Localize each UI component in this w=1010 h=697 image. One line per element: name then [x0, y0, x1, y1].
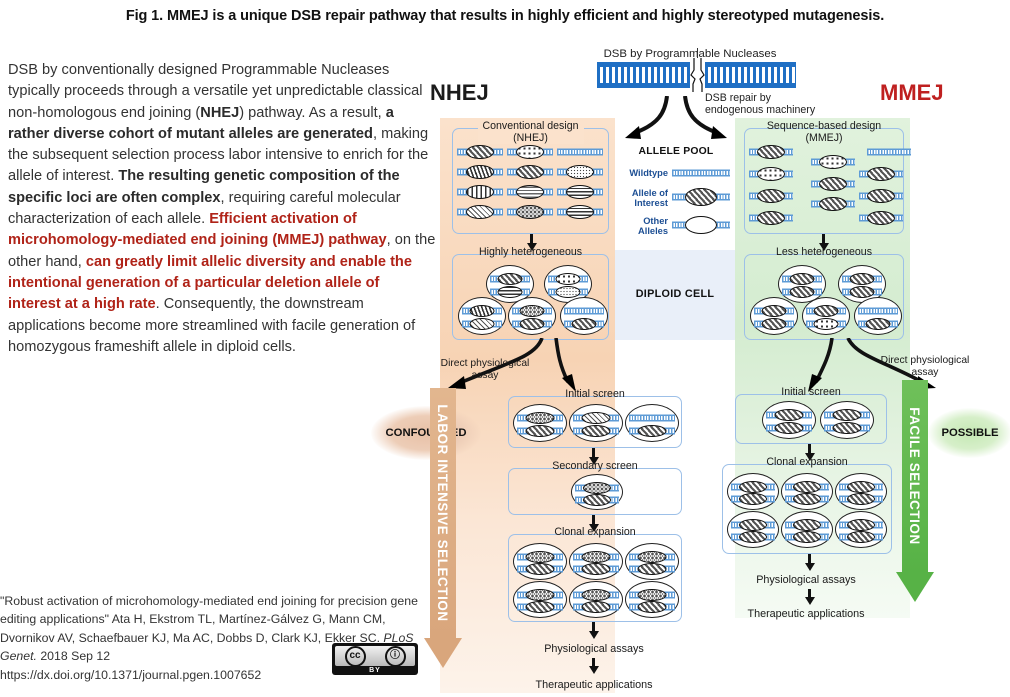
allele-blob [520, 305, 545, 317]
allele-blob [833, 422, 862, 434]
allele-blob [739, 519, 767, 531]
diploid-cell-icon [508, 297, 556, 335]
nhej-pathway-heading: NHEJ [430, 80, 489, 106]
mutant-allele-icon [629, 563, 675, 574]
allele-blob [566, 165, 594, 179]
diploid-cell-icon [625, 581, 679, 618]
mutant-allele-icon [507, 165, 553, 178]
diploid-cell-icon [854, 297, 902, 335]
allele-blob [526, 425, 555, 437]
allele-blob [470, 305, 495, 317]
mutant-allele-icon [517, 563, 563, 574]
allele-blob [847, 519, 875, 531]
allele-pool-title: ALLELE POOL [624, 146, 728, 157]
label-direct-assay-left: Direct physiologicalassay [432, 358, 538, 381]
mutant-allele-icon [811, 177, 855, 190]
facile-selection-arrow: FACILE SELECTION [902, 380, 928, 610]
allele-blob [793, 493, 821, 505]
panel-less-heterogeneous: Less heterogeneous [744, 254, 904, 340]
allele-blob [526, 589, 555, 601]
mutant-allele-icon [858, 318, 898, 329]
allele-blob [466, 205, 494, 219]
allele-blob [498, 286, 523, 298]
allele-blob [847, 493, 875, 505]
allele-blob [466, 185, 494, 199]
mutant-allele-icon [749, 211, 793, 224]
allele-blob [814, 318, 839, 330]
allele-blob [867, 167, 895, 181]
outcome-confounded: CONFOUNDED [371, 406, 481, 460]
diploid-cell-icon [513, 581, 567, 618]
panel-sequence-based-design: Sequence-based design(MMEJ) [744, 128, 904, 234]
allele-blob [526, 551, 555, 563]
mutant-allele-icon [557, 165, 603, 178]
mutant-allele-icon [457, 205, 503, 218]
mutant-allele-icon [512, 318, 552, 329]
mutant-allele-icon [557, 205, 603, 218]
allele-blob [793, 481, 821, 493]
panel-label-conventional-design: Conventional design(NHEJ) [477, 121, 583, 144]
allele-blob [582, 412, 611, 424]
allele-blob [526, 563, 555, 575]
allele-blob [793, 531, 821, 543]
diploid-cell-icon [560, 297, 608, 335]
mutant-allele-icon [512, 305, 552, 316]
label-therapeutic-applications-right: Therapeutic applications [722, 608, 890, 620]
mutant-allele-icon [754, 305, 794, 316]
mutant-allele-icon [517, 589, 563, 600]
mutant-allele-icon [457, 165, 503, 178]
allele-blob [638, 551, 667, 563]
allele-blob [466, 165, 494, 179]
panel-label-initial-screen-mmej: Initial screen [776, 387, 845, 399]
diploid-cell-icon [625, 404, 679, 442]
labor-intensive-selection-arrow: LABOR INTENSIVE SELECTION [430, 388, 456, 668]
mutant-allele-icon [629, 425, 675, 436]
allele-blob [867, 211, 895, 225]
arrow-clonal-to-assays-left [588, 622, 600, 640]
label-physiological-assays-right: Physiological assays [722, 574, 890, 586]
mutant-allele-icon [859, 167, 903, 180]
allele-blob [638, 601, 667, 613]
mutant-allele-icon [517, 551, 563, 562]
mutant-allele-icon [573, 601, 619, 612]
allele-blob [775, 422, 804, 434]
panel-label-less-heterogeneous: Less heterogeneous [771, 247, 877, 259]
allele-blob [814, 305, 839, 317]
diploid-cell-icon [820, 401, 874, 439]
mutant-allele-icon [842, 273, 882, 284]
wildtype-allele-icon [564, 305, 604, 316]
diploid-cell-icon [802, 297, 850, 335]
diploid-cell-icon [458, 297, 506, 335]
allele-blob [566, 205, 594, 219]
panel-initial-screen-mmej: Initial screen [735, 394, 887, 444]
mutant-allele-icon [785, 519, 829, 530]
diploid-cell-icon [835, 473, 887, 510]
allele-blob [762, 305, 787, 317]
cc-by-label: BY [332, 667, 418, 674]
allele-blob [566, 185, 594, 199]
mutant-allele-icon [785, 493, 829, 504]
allele-blob [556, 286, 581, 298]
mutant-allele-icon [811, 197, 855, 210]
mutant-allele-icon [824, 409, 870, 420]
arrow-assays-to-therapeutic-right [804, 589, 816, 607]
diploid-cell-icon [569, 581, 623, 618]
mutant-allele-icon [575, 494, 619, 505]
legend-allele-of-interest-icon [672, 188, 730, 206]
dsb-branch-arrows [615, 96, 740, 146]
allele-blob [867, 189, 895, 203]
cc-icon: cc [345, 646, 366, 667]
arrow-assays-to-therapeutic-left [588, 658, 600, 676]
allele-blob [556, 273, 581, 285]
mutant-allele-icon [782, 273, 822, 284]
diploid-cell-icon [513, 404, 567, 442]
mutant-allele-icon [785, 531, 829, 542]
allele-blob [850, 286, 875, 298]
diploid-cell-icon [569, 404, 623, 442]
outcome-possible: POSSIBLE [928, 408, 1010, 458]
mutant-allele-icon [629, 551, 675, 562]
label-physiological-assays-left: Physiological assays [508, 643, 680, 655]
mutant-allele-icon [839, 481, 883, 492]
legend-other-alleles-icon [672, 216, 730, 234]
diploid-cell-icon [781, 511, 833, 548]
mutant-allele-icon [629, 601, 675, 612]
mutant-allele-icon [490, 286, 530, 297]
allele-blob [582, 425, 611, 437]
allele-blob [762, 318, 787, 330]
diploid-cell-icon [727, 511, 779, 548]
legend-label-allele-of-interest: Allele ofInterest [620, 188, 668, 208]
allele-blob [520, 318, 545, 330]
allele-blob [757, 145, 785, 159]
mutant-allele-icon [839, 531, 883, 542]
attribution-icon: ⓘ [385, 646, 406, 667]
citation-date: 2018 Sep 12 [40, 649, 110, 663]
mutant-allele-icon [573, 551, 619, 562]
panel-label-initial-screen-nhej: Initial screen [560, 389, 629, 401]
legend-label-wildtype: Wildtype [620, 168, 668, 178]
allele-blob [526, 412, 555, 424]
panel-label-highly-heterogeneous: Highly heterogeneous [474, 247, 587, 259]
mutant-allele-icon [507, 205, 553, 218]
mutant-allele-icon [517, 425, 563, 436]
mutant-allele-icon [749, 189, 793, 202]
arrow-clonal-to-assays-right [804, 554, 816, 572]
mutant-allele-icon [457, 145, 503, 158]
facile-selection-label: FACILE SELECTION [902, 380, 928, 572]
allele-blob [516, 185, 544, 199]
panel-label-clonal-expansion-nhej: Clonal expansion [549, 527, 640, 539]
abstract-segment: NHEJ [200, 105, 239, 121]
mutant-allele-icon [766, 422, 812, 433]
labor-intensive-selection-label: LABOR INTENSIVE SELECTION [430, 388, 456, 638]
allele-blob [572, 318, 597, 330]
allele-blob [582, 601, 611, 613]
allele-blob [793, 519, 821, 531]
mutant-allele-icon [490, 273, 530, 284]
mmej-pathway-heading: MMEJ [880, 80, 944, 106]
diploid-cell-icon [835, 511, 887, 548]
allele-blob [638, 589, 667, 601]
allele-blob [739, 493, 767, 505]
label-direct-assay-right: Direct physiologicalassay [872, 355, 978, 378]
mutant-allele-icon [766, 409, 812, 420]
citation-doi-link[interactable]: https://dx.doi.org/10.1371/journal.pgen.… [0, 668, 261, 682]
allele-pool-legend: Wildtype Allele ofInterest OtherAlleles [620, 166, 735, 238]
panel-highly-heterogeneous: Highly heterogeneous [452, 254, 609, 340]
diploid-cell-icon [571, 474, 623, 510]
allele-blob [638, 425, 667, 437]
allele-blob [819, 155, 847, 169]
wildtype-allele-icon [858, 305, 898, 316]
diploid-cell-icon [569, 543, 623, 580]
legend-label-other-alleles: OtherAlleles [620, 216, 668, 236]
mutant-allele-icon [731, 519, 775, 530]
mutant-allele-icon [806, 318, 846, 329]
diploid-cell-icon [625, 543, 679, 580]
mutant-allele-icon [749, 167, 793, 180]
label-therapeutic-applications-left: Therapeutic applications [508, 679, 680, 691]
allele-blob [470, 318, 495, 330]
allele-blob [850, 273, 875, 285]
diploid-cell-icon [781, 473, 833, 510]
wildtype-allele-icon [629, 412, 675, 423]
dsb-break-right-icon [698, 58, 705, 92]
allele-blob [583, 494, 611, 506]
allele-blob [866, 318, 891, 330]
mutant-allele-icon [839, 519, 883, 530]
allele-blob [819, 197, 847, 211]
diploid-cell-icon [762, 401, 816, 439]
mutant-allele-icon [573, 425, 619, 436]
mutant-allele-icon [462, 305, 502, 316]
mutant-allele-icon [782, 286, 822, 297]
panel-clonal-expansion-nhej: Clonal expansion [508, 534, 682, 622]
creative-commons-badge: cc ⓘ BY [332, 643, 418, 675]
mutant-allele-icon [842, 286, 882, 297]
mutant-allele-icon [573, 589, 619, 600]
mutant-allele-icon [462, 318, 502, 329]
allele-blob [582, 551, 611, 563]
mutant-allele-icon [811, 155, 855, 168]
panel-clonal-expansion-mmej: Clonal expansion [722, 464, 892, 554]
allele-blob [790, 273, 815, 285]
panel-secondary-screen-nhej: Secondary screen [508, 468, 682, 515]
wildtype-allele-icon [867, 145, 911, 158]
allele-blob [638, 563, 667, 575]
allele-blob [757, 211, 785, 225]
mutant-allele-icon [507, 145, 553, 158]
mutant-allele-icon [517, 601, 563, 612]
allele-blob [739, 481, 767, 493]
mutant-allele-icon [629, 589, 675, 600]
mutant-allele-icon [731, 493, 775, 504]
allele-blob [516, 145, 544, 159]
mutant-allele-icon [564, 318, 604, 329]
mutant-allele-icon [573, 563, 619, 574]
mutant-allele-icon [548, 286, 588, 297]
mutant-allele-icon [575, 482, 619, 493]
allele-blob [790, 286, 815, 298]
dsb-dna-duplex-icon [597, 62, 796, 88]
mutant-allele-icon [731, 531, 775, 542]
abstract-segment: ) pathway. As a result, [239, 105, 386, 121]
mutant-allele-icon [859, 189, 903, 202]
diploid-cell-icon [513, 543, 567, 580]
mutant-allele-icon [839, 493, 883, 504]
mutant-allele-icon [573, 412, 619, 423]
allele-blob [582, 563, 611, 575]
mutant-allele-icon [824, 422, 870, 433]
allele-blob [516, 205, 544, 219]
mutant-allele-icon [507, 185, 553, 198]
allele-blob [583, 482, 611, 494]
mutant-allele-icon [731, 481, 775, 492]
mutant-allele-icon [557, 185, 603, 198]
allele-blob [498, 273, 523, 285]
panel-label-secondary-screen: Secondary screen [547, 461, 642, 473]
allele-blob [516, 165, 544, 179]
mutant-allele-icon [749, 145, 793, 158]
panel-conventional-design: Conventional design(NHEJ) [452, 128, 609, 234]
mutant-allele-icon [859, 211, 903, 224]
diploid-cell-icon [727, 473, 779, 510]
diploid-cell-icon [750, 297, 798, 335]
dsb-break-left-icon [690, 58, 697, 92]
panel-label-clonal-expansion-mmej: Clonal expansion [761, 457, 852, 469]
allele-blob [582, 589, 611, 601]
diploid-cell-label: DIPLOID CELL [615, 288, 735, 300]
wildtype-allele-icon [557, 145, 603, 158]
allele-blob [847, 481, 875, 493]
mutant-allele-icon [457, 185, 503, 198]
panel-initial-screen-nhej: Initial screen [508, 396, 682, 448]
allele-blob [819, 177, 847, 191]
allele-blob [739, 531, 767, 543]
allele-blob [757, 189, 785, 203]
allele-blob [833, 409, 862, 421]
mutant-allele-icon [548, 273, 588, 284]
allele-blob [757, 167, 785, 181]
allele-blob [466, 145, 494, 159]
mutant-allele-icon [754, 318, 794, 329]
figure-abstract-text: DSB by conventionally designed Programma… [8, 60, 436, 358]
allele-blob [526, 601, 555, 613]
allele-blob [775, 409, 804, 421]
mutant-allele-icon [785, 481, 829, 492]
mutant-allele-icon [517, 412, 563, 423]
mutant-allele-icon [806, 305, 846, 316]
panel-label-sequence-based-design: Sequence-based design(MMEJ) [762, 121, 886, 144]
figure-title: Fig 1. MMEJ is a unique DSB repair pathw… [0, 8, 1010, 24]
legend-wildtype-icon [672, 166, 730, 180]
allele-blob [847, 531, 875, 543]
